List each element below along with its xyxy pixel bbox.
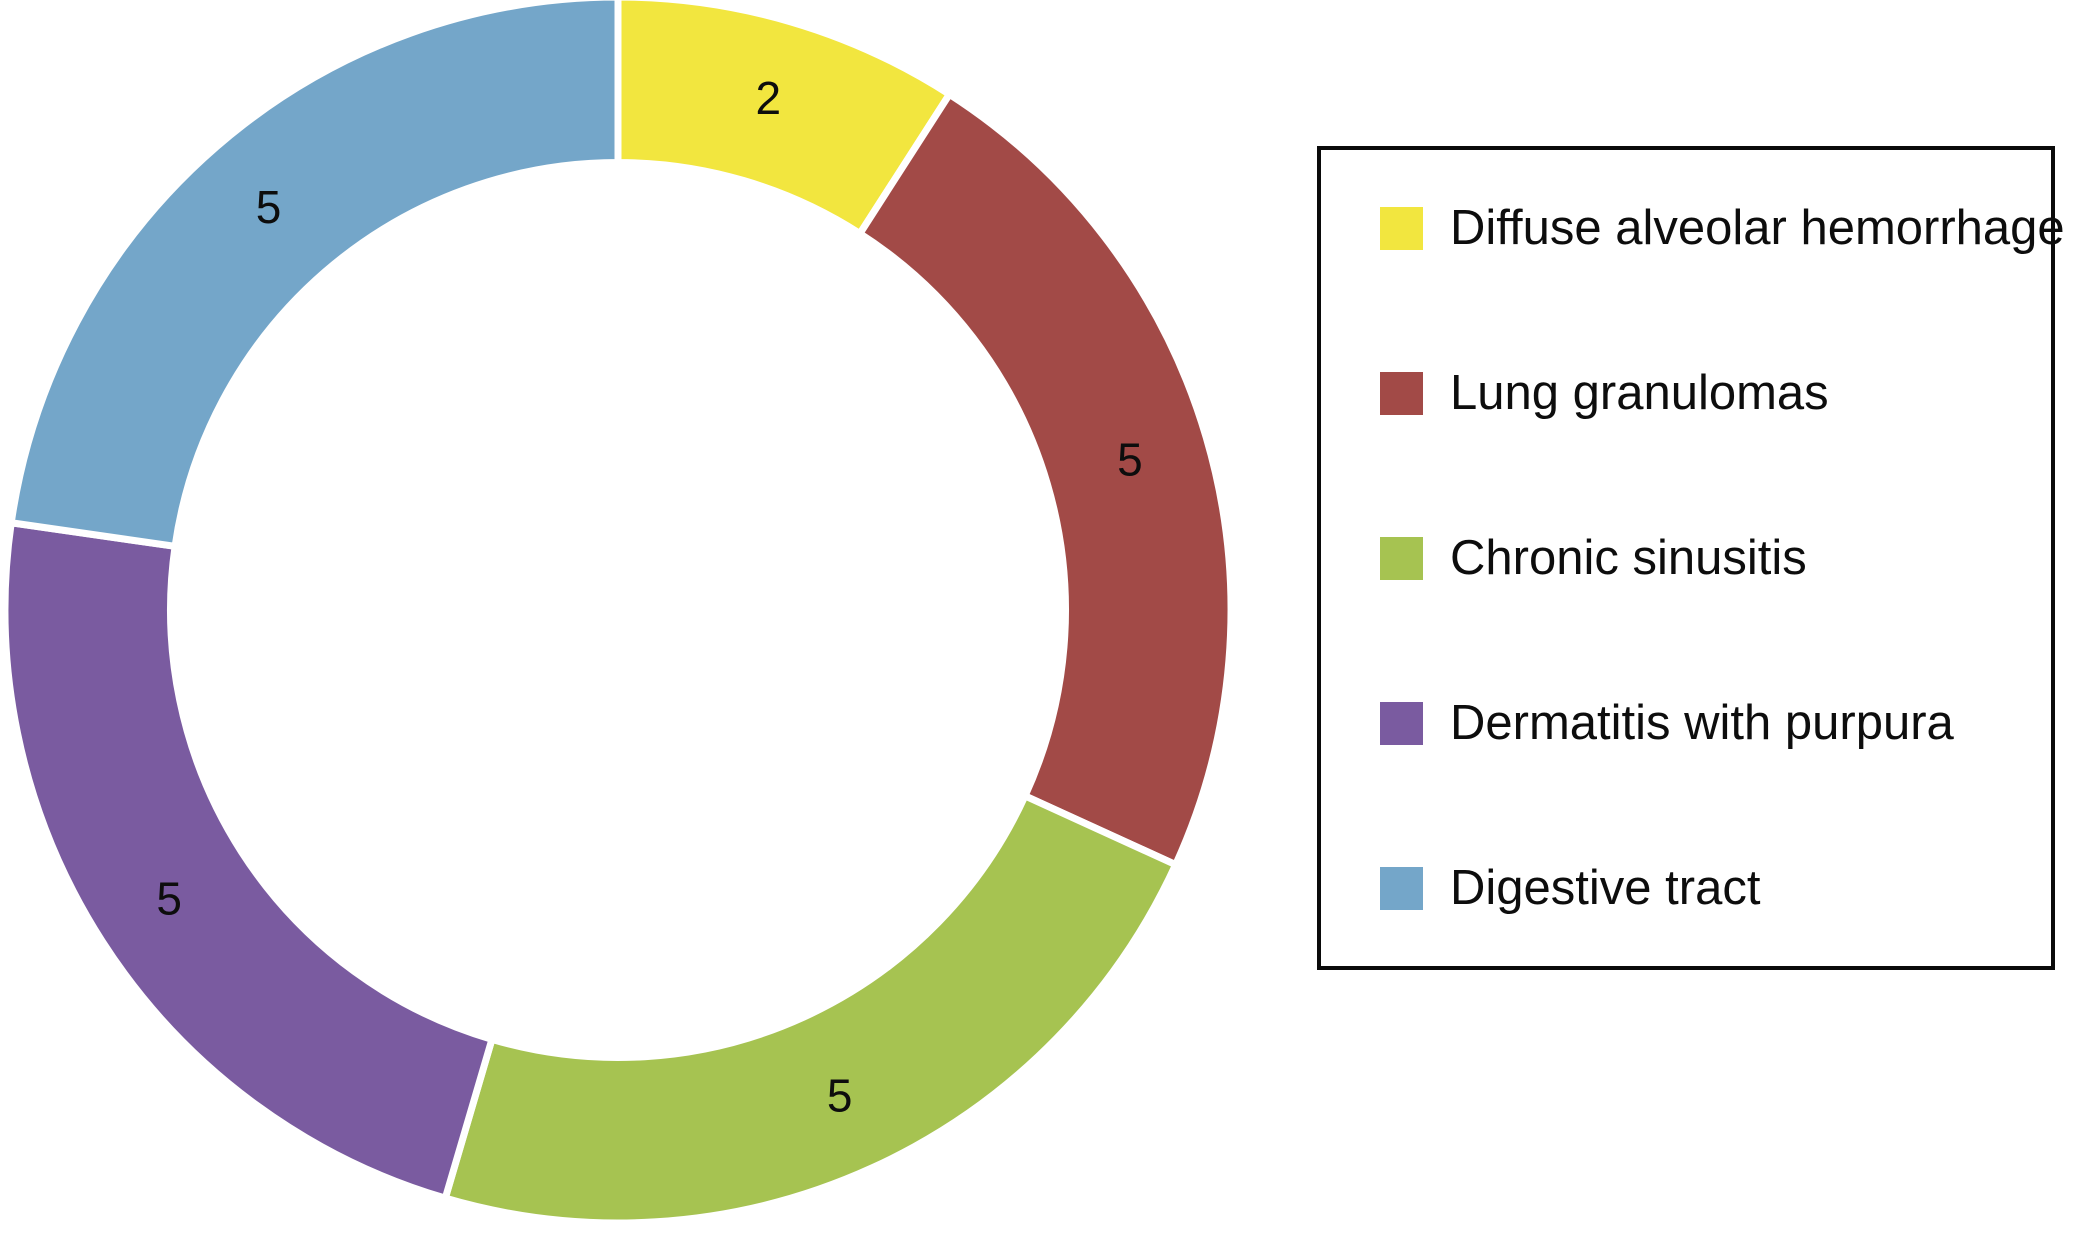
donut-slice[interactable] — [11, 0, 618, 546]
donut-slice-value-label: 5 — [827, 1069, 853, 1121]
legend-item[interactable]: Lung granulomas — [1321, 363, 2051, 423]
donut-chart-figure: 25555 Diffuse alveolar hemorrhageLung gr… — [0, 0, 2089, 1241]
legend-items-list: Diffuse alveolar hemorrhageLung granulom… — [1321, 150, 2051, 966]
donut-slice-value-label: 5 — [156, 872, 182, 924]
legend: Diffuse alveolar hemorrhageLung granulom… — [1317, 146, 2055, 970]
legend-item[interactable]: Dermatitis with purpura — [1321, 693, 2051, 753]
legend-item-label: Diffuse alveolar hemorrhage — [1450, 204, 2065, 253]
legend-color-swatch-icon — [1380, 867, 1423, 910]
legend-item[interactable]: Chronic sinusitis — [1321, 528, 2051, 588]
donut-slice-value-label: 5 — [1117, 434, 1143, 486]
legend-color-swatch-icon — [1380, 372, 1423, 415]
donut-slice[interactable] — [445, 796, 1175, 1223]
legend-item-label: Chronic sinusitis — [1450, 534, 1807, 583]
donut-slices-group — [5, 0, 1231, 1223]
legend-item[interactable]: Diffuse alveolar hemorrhage — [1321, 198, 2051, 258]
donut-chart-plot-area: 25555 — [0, 0, 1260, 1241]
legend-item[interactable]: Digestive tract — [1321, 858, 2051, 918]
donut-slice[interactable] — [5, 523, 492, 1198]
donut-slice-value-label: 2 — [756, 72, 782, 124]
donut-slice[interactable] — [860, 94, 1231, 864]
legend-color-swatch-icon — [1380, 207, 1423, 250]
legend-color-swatch-icon — [1380, 537, 1423, 580]
donut-chart-svg: 25555 — [0, 0, 1260, 1241]
legend-color-swatch-icon — [1380, 702, 1423, 745]
legend-item-label: Digestive tract — [1450, 864, 1760, 913]
legend-item-label: Lung granulomas — [1450, 369, 1829, 418]
legend-item-label: Dermatitis with purpura — [1450, 699, 1954, 748]
donut-slice-value-label: 5 — [256, 181, 282, 233]
